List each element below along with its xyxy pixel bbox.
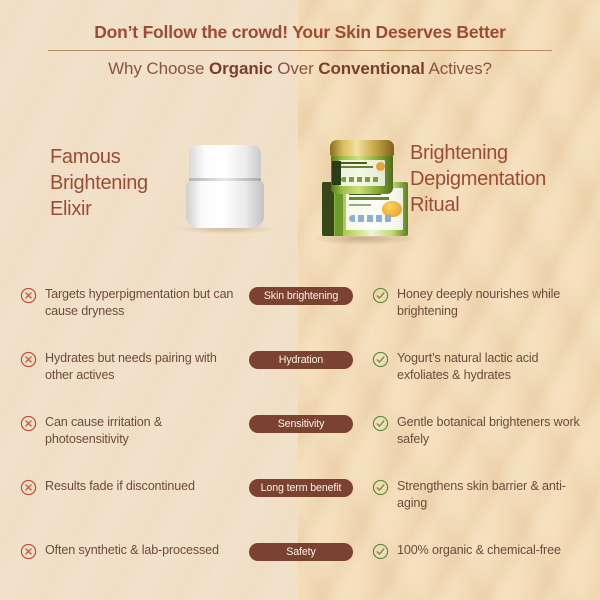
- row-negative-text: Targets hyperpigmentation but can cause …: [45, 286, 246, 319]
- row-positive-cell: Gentle botanical brighteners work safely: [372, 414, 586, 447]
- row-category-badge: Sensitivity: [249, 415, 353, 433]
- row-negative-text: Often synthetic & lab-processed: [45, 542, 219, 559]
- table-row: Hydrates but needs pairing with other ac…: [0, 342, 600, 406]
- row-category-badge: Safety: [249, 543, 353, 561]
- subhead-part-3: Actives?: [425, 59, 492, 78]
- row-positive-text: Yogurt’s natural lactic acid exfoliates …: [397, 350, 586, 383]
- row-negative-cell: Can cause irritation & photosensitivity: [20, 414, 246, 447]
- row-negative-cell: Hydrates but needs pairing with other ac…: [20, 350, 246, 383]
- row-positive-text: Honey deeply nourishes while brightening: [397, 286, 586, 319]
- row-category-badge: Skin brightening: [249, 287, 353, 305]
- page-subheadline: Why Choose Organic Over Conventional Act…: [0, 59, 600, 79]
- green-organic-product-icon: [322, 140, 408, 252]
- row-positive-cell: 100% organic & chemical-free: [372, 542, 586, 560]
- circle-x-icon: [20, 287, 37, 304]
- row-positive-text: 100% organic & chemical-free: [397, 542, 561, 559]
- product-comparison-header: Famous Brightening Elixir: [0, 128, 600, 258]
- circle-x-icon: [20, 351, 37, 368]
- row-negative-cell: Often synthetic & lab-processed: [20, 542, 246, 560]
- row-negative-text: Hydrates but needs pairing with other ac…: [45, 350, 246, 383]
- subhead-part-1: Why Choose: [108, 59, 209, 78]
- row-category-badge: Hydration: [249, 351, 353, 369]
- header: Don’t Follow the crowd! Your Skin Deserv…: [0, 22, 600, 79]
- row-negative-text: Results fade if discontinued: [45, 478, 195, 495]
- subhead-part-2: Over: [273, 59, 319, 78]
- row-positive-text: Strengthens skin barrier & anti-aging: [397, 478, 586, 511]
- row-negative-cell: Results fade if discontinued: [20, 478, 246, 496]
- header-divider: [48, 50, 552, 51]
- circle-check-icon: [372, 415, 389, 432]
- circle-check-icon: [372, 351, 389, 368]
- row-category-badge: Long term benefit: [249, 479, 353, 497]
- circle-x-icon: [20, 479, 37, 496]
- row-negative-cell: Targets hyperpigmentation but can cause …: [20, 286, 246, 319]
- circle-x-icon: [20, 543, 37, 560]
- white-cream-jar-icon: [186, 145, 264, 231]
- table-row: Often synthetic & lab-processed Safety 1…: [0, 534, 600, 584]
- row-positive-cell: Yogurt’s natural lactic acid exfoliates …: [372, 350, 586, 383]
- row-positive-cell: Honey deeply nourishes while brightening: [372, 286, 586, 319]
- table-row: Can cause irritation & photosensitivity …: [0, 406, 600, 470]
- circle-x-icon: [20, 415, 37, 432]
- table-row: Results fade if discontinued Long term b…: [0, 470, 600, 534]
- circle-check-icon: [372, 543, 389, 560]
- row-positive-cell: Strengthens skin barrier & anti-aging: [372, 478, 586, 511]
- row-negative-text: Can cause irritation & photosensitivity: [45, 414, 246, 447]
- circle-check-icon: [372, 479, 389, 496]
- subhead-emphasis-organic: Organic: [209, 59, 273, 78]
- comparison-table: Targets hyperpigmentation but can cause …: [0, 278, 600, 584]
- product-title-organic: Brightening Depigmentation Ritual: [410, 140, 590, 218]
- table-row: Targets hyperpigmentation but can cause …: [0, 278, 600, 342]
- page-headline: Don’t Follow the crowd! Your Skin Deserv…: [0, 22, 600, 43]
- circle-check-icon: [372, 287, 389, 304]
- subhead-emphasis-conventional: Conventional: [318, 59, 424, 78]
- row-positive-text: Gentle botanical brighteners work safely: [397, 414, 586, 447]
- product-title-conventional: Famous Brightening Elixir: [50, 144, 190, 222]
